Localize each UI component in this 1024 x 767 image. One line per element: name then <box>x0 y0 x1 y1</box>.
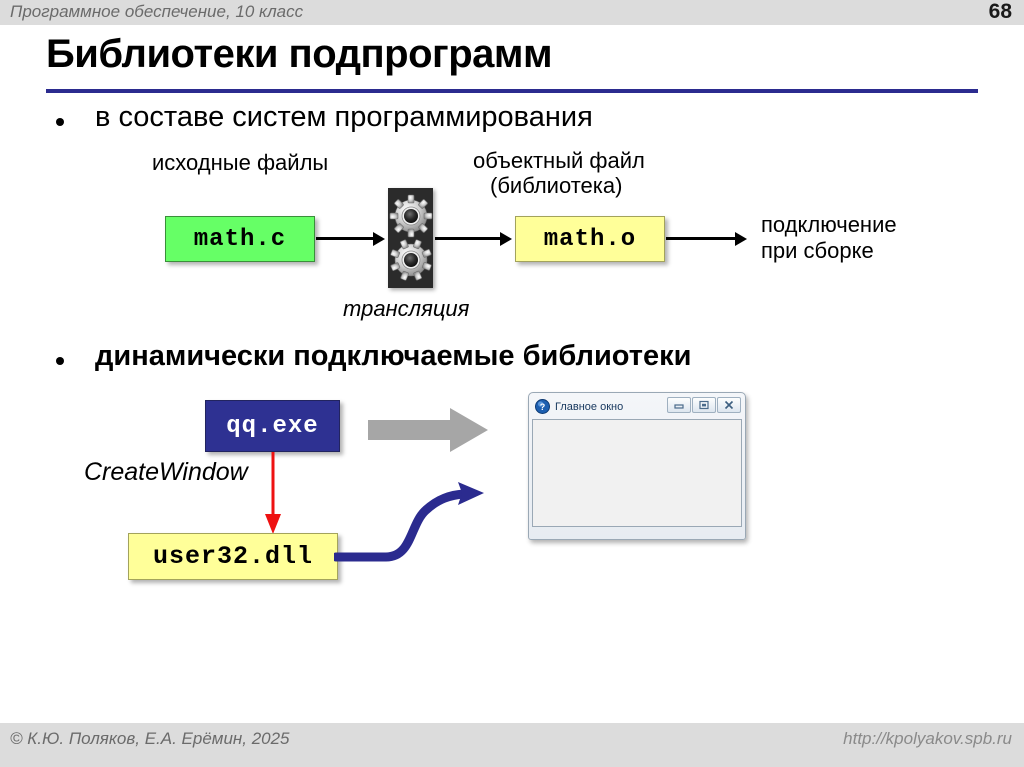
arrow-source-to-compiler-head <box>373 232 385 246</box>
arrow-object-to-link-head <box>735 232 747 246</box>
window-titlebar[interactable]: ? Главное окно <box>532 396 742 417</box>
title-underline-rule <box>46 89 978 93</box>
arrow-compiler-to-object-head <box>500 232 512 246</box>
footer-url[interactable]: http://kpolyakov.spb.ru <box>843 729 1012 749</box>
arrow-compiler-to-object-line <box>435 237 501 240</box>
gears-icon <box>388 188 433 288</box>
box-executable: qq.exe <box>205 400 340 452</box>
window-title: Главное окно <box>555 401 623 413</box>
footer-bar: © К.Ю. Поляков, Е.А. Ерёмин, 2025 http:/… <box>0 723 1024 767</box>
label-source-files: исходные файлы <box>152 150 328 176</box>
window-client-area[interactable] <box>532 419 742 527</box>
bullet-marker-2 <box>56 357 64 365</box>
course-title: Программное обеспечение, 10 класс <box>10 2 303 22</box>
app-window[interactable]: ? Главное окно <box>528 392 746 540</box>
compiler-gears-block <box>388 188 433 288</box>
svg-text:?: ? <box>540 402 546 412</box>
arrow-exe-to-window <box>368 408 488 457</box>
footer-copyright: © К.Ю. Поляков, Е.А. Ерёмин, 2025 <box>10 729 290 749</box>
page-number: 68 <box>989 0 1012 24</box>
help-question-icon: ? <box>535 399 550 414</box>
label-object-file-line1: объектный файл <box>473 148 645 174</box>
arrow-dll-to-window <box>334 462 494 579</box>
label-link-line1: подключение <box>761 212 897 238</box>
box-dll: user32.dll <box>128 533 338 580</box>
bullet-marker-1 <box>56 118 64 126</box>
bullet-text-1: в составе систем программирования <box>95 101 593 134</box>
label-object-file-line2: (библиотека) <box>490 173 622 199</box>
box-object-file: math.o <box>515 216 665 262</box>
bullet-text-2: динамически подключаемые библиотеки <box>95 340 691 373</box>
close-icon[interactable] <box>717 397 741 413</box>
maximize-icon[interactable] <box>692 397 716 413</box>
minimize-icon[interactable] <box>667 397 691 413</box>
header-bar: Программное обеспечение, 10 класс 68 <box>0 0 1024 25</box>
label-createwindow-call: CreateWindow <box>84 458 248 487</box>
slide-canvas: Программное обеспечение, 10 класс 68 Биб… <box>0 0 1024 767</box>
box-source-file: math.c <box>165 216 315 262</box>
arrow-source-to-compiler-line <box>316 237 374 240</box>
label-link-line2: при сборке <box>761 238 874 264</box>
window-controls[interactable] <box>667 397 741 413</box>
page-title: Библиотеки подпрограмм <box>46 32 552 77</box>
arrow-call-to-dll <box>262 452 284 541</box>
label-translation: трансляция <box>343 296 469 322</box>
arrow-object-to-link-line <box>666 237 736 240</box>
